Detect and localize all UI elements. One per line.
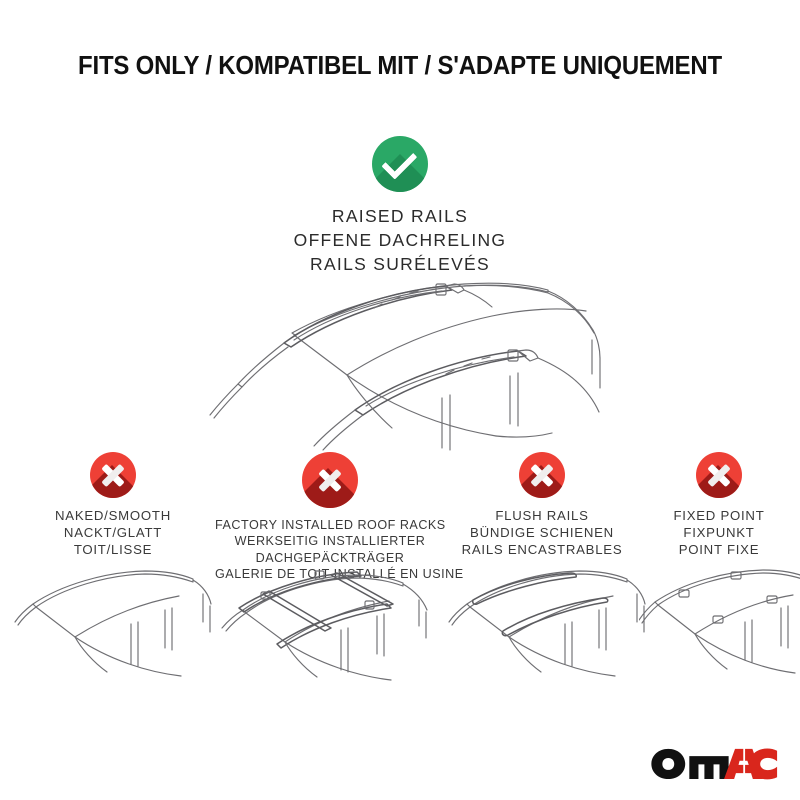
raised-rails-drawing [196,278,606,453]
compatible-section: RAISED RAILS OFFENE DACHRELING RAILS SUR… [0,136,800,276]
green-check-circle-icon [372,136,428,192]
x-glyph [706,462,732,488]
car-roof-crossbars-illustration [215,552,445,682]
bare-roof-drawing [13,552,213,677]
incompatible-labels: NAKED/SMOOTH NACKT/GLATT TOIT/LISSE [13,507,213,558]
fixed-point-roof-drawing [639,552,800,677]
car-roof-raised-rails-illustration [196,278,606,453]
label-de-1: WERKSEITIG INSTALLIERTER [215,533,445,549]
compatible-label-en: RAISED RAILS [0,205,800,229]
incompatible-item-factory-roof-racks: FACTORY INSTALLED ROOF RACKS WERKSEITIG … [215,452,445,582]
red-x-circle-icon [519,452,565,498]
incompatible-item-flush-rails: FLUSH RAILS BÜNDIGE SCHIENEN RAILS ENCAS… [447,452,637,558]
car-roof-fixed-points-illustration [639,552,799,677]
compatible-label-fr: RAILS SURÉLEVÉS [0,253,800,277]
x-glyph [100,462,126,488]
header: FITS ONLY / KOMPATIBEL MIT / S'ADAPTE UN… [0,52,800,81]
red-x-circle-icon [696,452,742,498]
label-en: FIXED POINT [639,507,799,524]
crossbar-roof-drawing [215,552,445,682]
red-x-circle-icon [302,452,358,508]
x-glyph [317,467,343,493]
red-x-circle-icon [90,452,136,498]
compatible-label-de: OFFENE DACHRELING [0,229,800,253]
incompatible-labels: FIXED POINT FIXPUNKT POINT FIXE [639,507,799,558]
incompatible-item-naked-smooth: NAKED/SMOOTH NACKT/GLATT TOIT/LISSE [13,452,213,558]
compatible-labels: RAISED RAILS OFFENE DACHRELING RAILS SUR… [0,205,800,276]
car-roof-flush-rails-illustration [447,552,637,677]
label-en: NAKED/SMOOTH [13,507,213,524]
flush-rail-roof-drawing [447,552,647,677]
omac-logo [650,744,778,782]
page-title: FITS ONLY / KOMPATIBEL MIT / S'ADAPTE UN… [24,52,776,81]
label-en: FACTORY INSTALLED ROOF RACKS [215,517,445,533]
incompatible-item-fixed-point: FIXED POINT FIXPUNKT POINT FIXE [639,452,799,558]
label-de: NACKT/GLATT [13,524,213,541]
car-roof-bare-illustration [13,552,213,677]
label-de: BÜNDIGE SCHIENEN [447,524,637,541]
label-en: FLUSH RAILS [447,507,637,524]
label-de: FIXPUNKT [639,524,799,541]
incompatible-labels: FLUSH RAILS BÜNDIGE SCHIENEN RAILS ENCAS… [447,507,637,558]
x-glyph [529,462,555,488]
incompatible-section: NAKED/SMOOTH NACKT/GLATT TOIT/LISSE [0,452,800,692]
omac-logo-mark [650,745,778,782]
